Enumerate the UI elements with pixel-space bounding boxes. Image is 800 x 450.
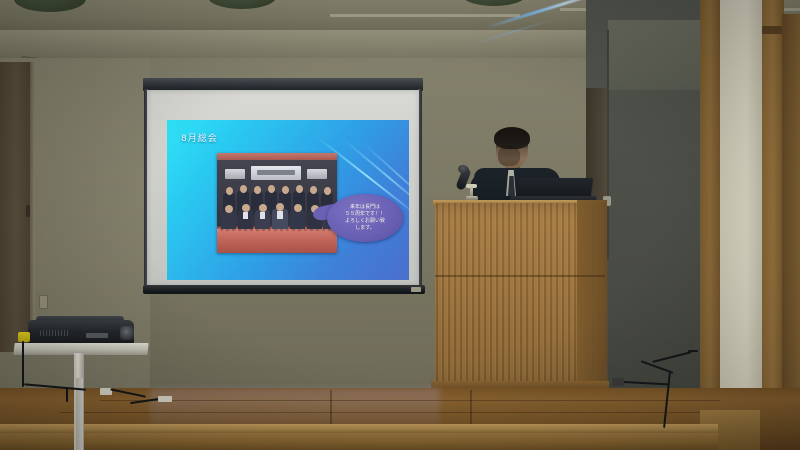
right-wooden-door[interactable] [782,14,800,430]
podium-side-panel [577,200,607,390]
wall-outlet-icon [39,295,48,309]
photo-red-carpet [217,231,337,253]
floor-plank-line [60,412,720,413]
photo-person-head [282,186,289,194]
podium-seam [435,275,605,277]
wall-cable [688,350,698,352]
screen-pull-knob-icon[interactable] [411,287,421,292]
presenter-face [498,146,520,166]
projected-slide: 8月総会 [167,120,409,280]
floor-plank-line [100,400,720,401]
projection-screen: 8月総会 [143,78,423,300]
photo-person-shirt [243,212,248,219]
photo-person-head [226,187,233,195]
power-cable [22,341,24,387]
speech-bubble-line: 来年は長門は [345,204,385,211]
photo-person-head [254,186,261,194]
photo-ac-unit [225,169,245,179]
photo-person-shirt [277,211,283,219]
photo-person-head [225,205,233,213]
photo-person-shirt [260,212,265,219]
right-white-wall [720,0,764,430]
photo-ac-unit [307,169,327,179]
photo-person-head [310,186,317,194]
photo-person-head [294,204,302,212]
screen-bottom-bar [143,285,425,294]
stage-front-face [0,433,718,450]
right-wall-panel [608,20,702,90]
photo-person-head [240,185,247,193]
photo-person-seated [221,211,236,231]
presentation-room-photo: 8月総会 [0,0,800,450]
photo-person-head [259,204,267,212]
photo-person-head [242,204,250,212]
photo-person-seated [290,210,305,231]
photo-person-head [296,185,303,193]
projector-power-plug-icon [18,332,30,342]
speech-bubble-line: ５５周年です！！ [345,211,385,218]
ceiling-rail [330,14,520,17]
right-door-frame [762,0,784,430]
projector-label [86,333,108,338]
speech-bubble-line: します。 [345,225,385,232]
slide-title: 8月総会 [181,131,218,144]
screen-surface: 8月総会 [147,90,419,286]
speech-bubble-text: 来年は長門は ５５周年です！！ よろしくお願い致 します。 [342,204,388,232]
floor-connector [158,396,172,402]
right-door-jamb [700,0,722,420]
power-cable [66,388,68,402]
photo-top-band [217,153,337,160]
slide-group-photo [217,153,337,253]
projector-vent [40,330,70,336]
laptop-screen[interactable] [517,178,594,198]
photo-person-head [324,187,331,195]
speech-bubble-line: よろしくお願い致 [345,218,385,225]
photo-person-head [276,203,284,211]
photo-stage-screen-inner [257,170,295,175]
door-handle-icon[interactable] [26,205,30,217]
speech-bubble: 来年は長門は ５５周年です！！ よろしくお願い致 します。 [327,194,403,242]
floor-plank-line [470,390,472,424]
left-door-edge [30,62,35,352]
floor-plug-icon [612,378,624,386]
photo-person-head [268,185,275,193]
hanging-cable [607,30,609,260]
projector-lens-icon [120,326,134,340]
floor-plank-line [330,390,332,424]
